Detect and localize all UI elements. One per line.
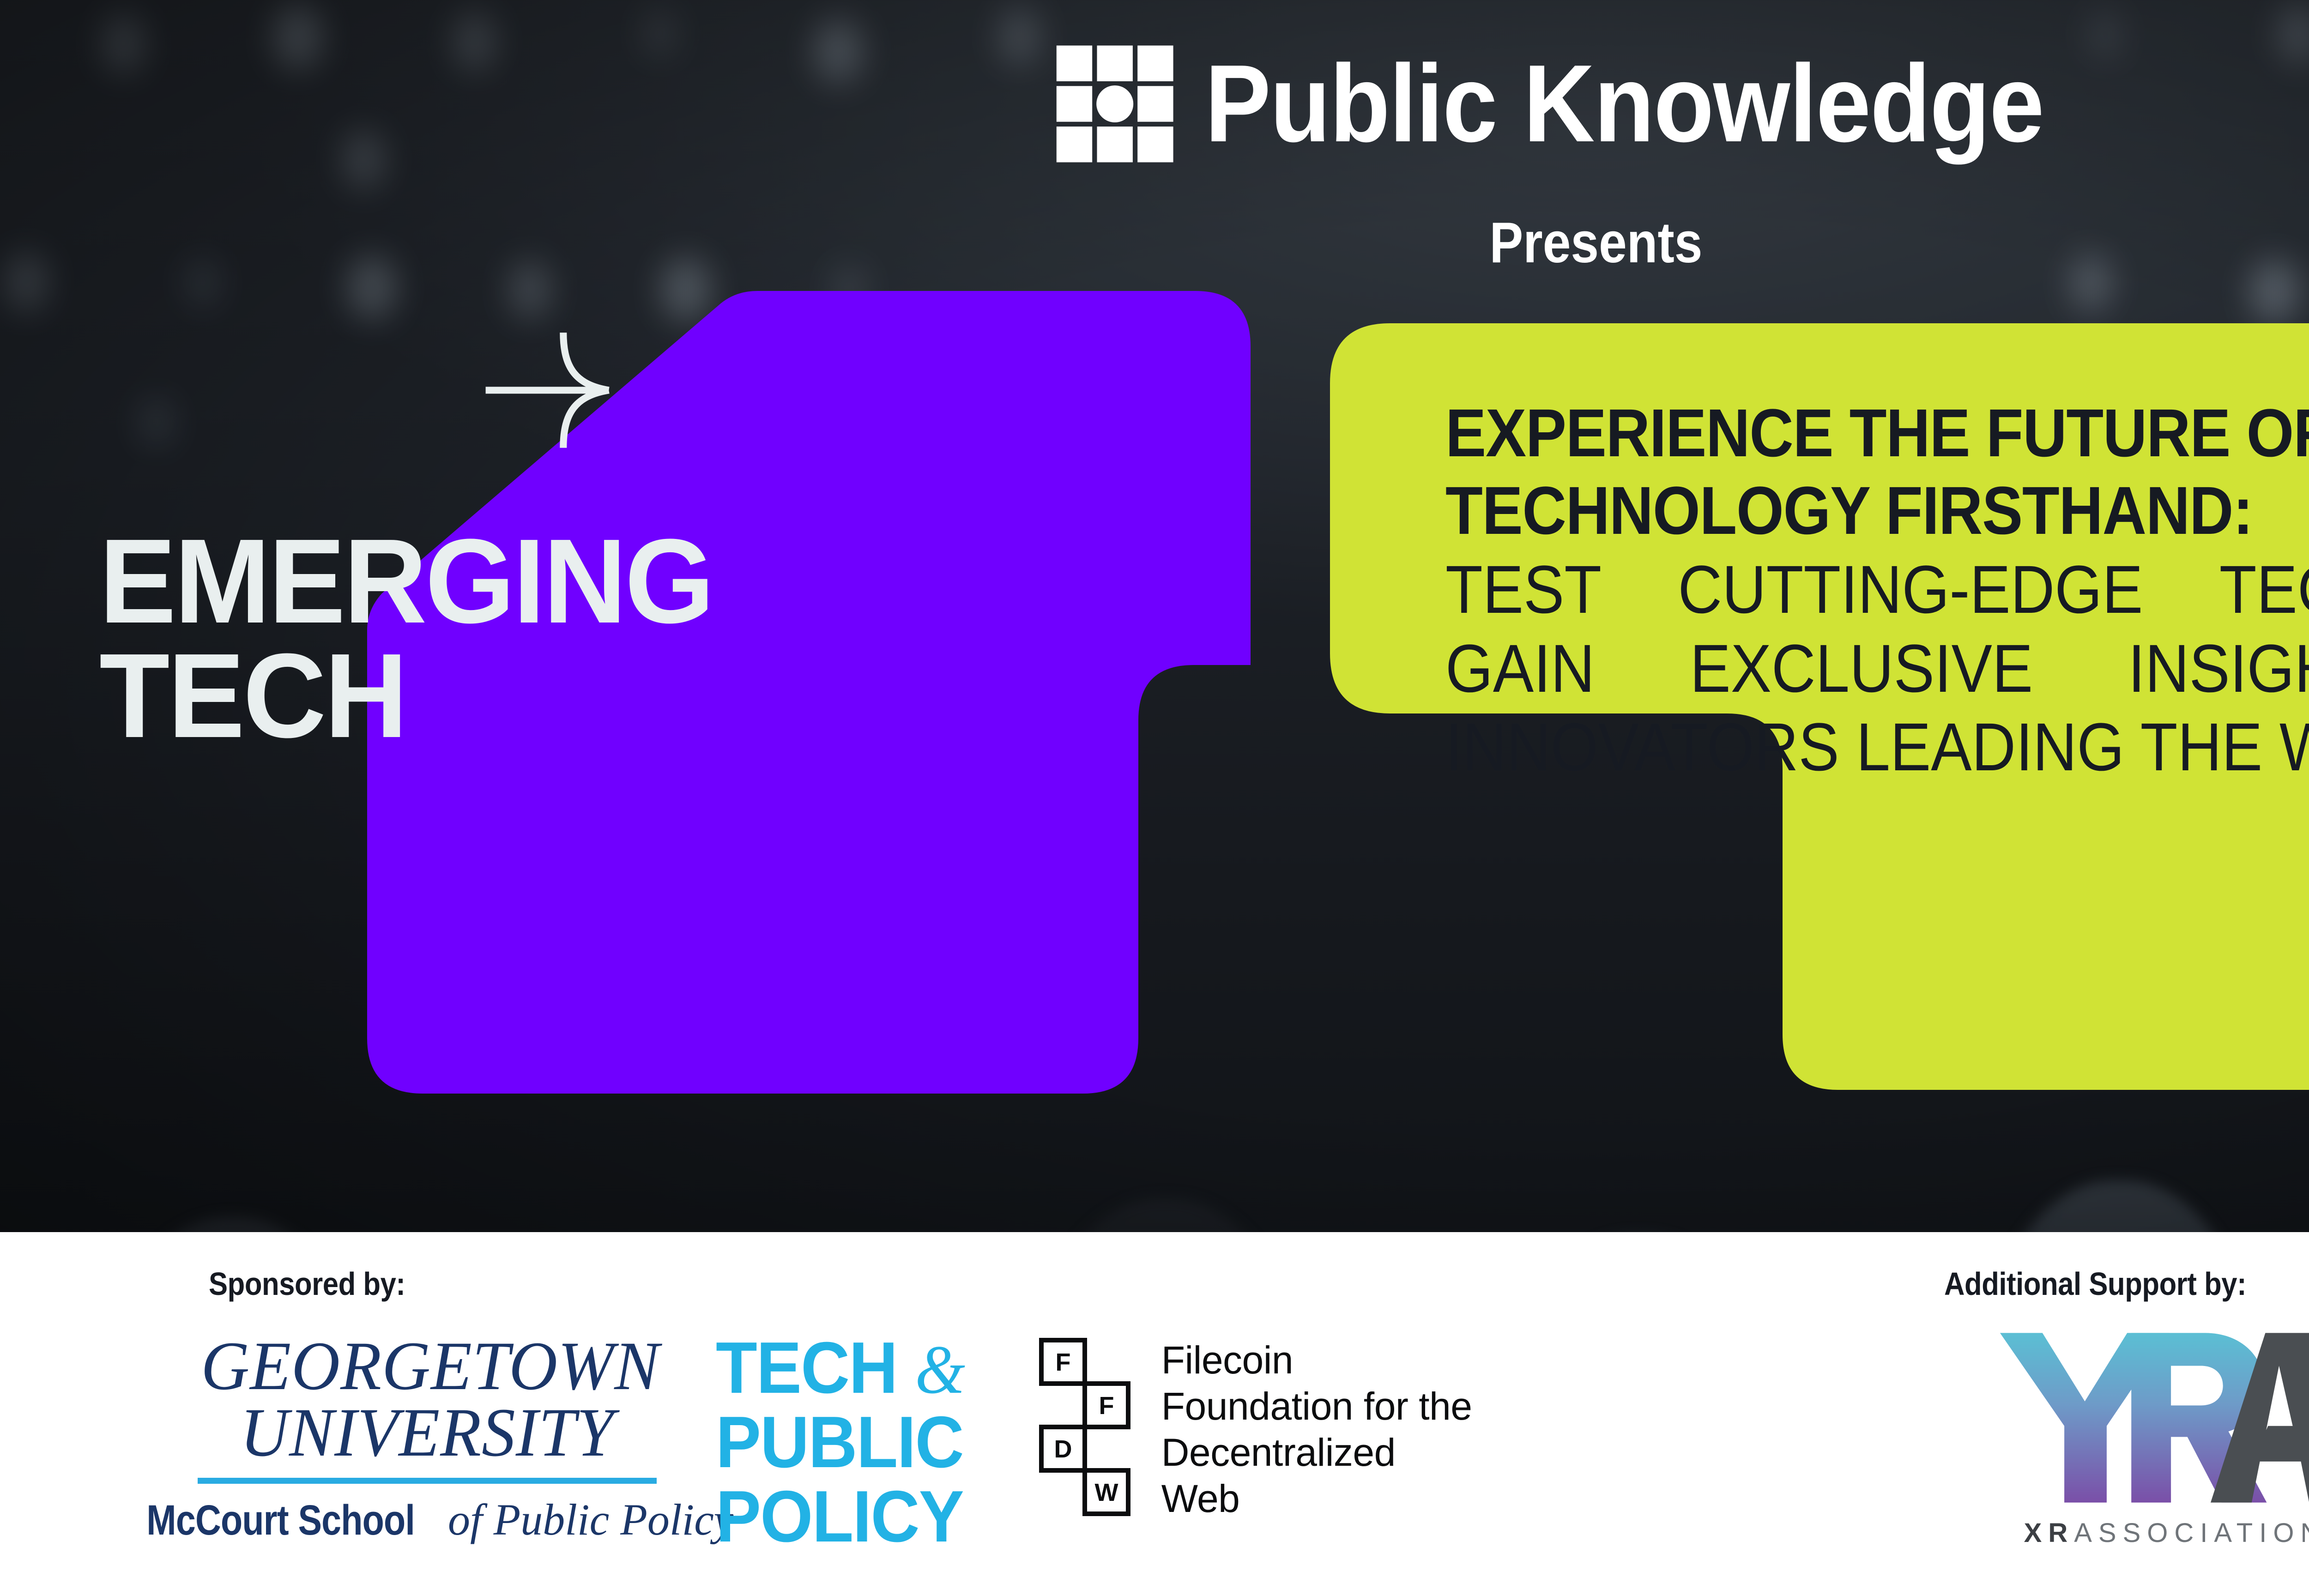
georgetown-university-logo: GEORGETOWN UNIVERSITY McCourt School of … xyxy=(194,1324,660,1545)
filecoin-ffdw-mark-icon: F F D W xyxy=(1039,1337,1131,1522)
sponsored-by-block: Sponsored by: xyxy=(209,1265,432,1302)
filecoin-text-line3: Decentralized xyxy=(1161,1430,1472,1476)
filecoin-text-line1: Filecoin xyxy=(1161,1337,1472,1384)
presents-label: Presents xyxy=(1490,210,1703,276)
banner-header: Public Knowledge Presents xyxy=(0,0,2309,296)
sponsor-footer: Sponsored by: GEORGETOWN UNIVERSITY McCo… xyxy=(0,1232,2309,1596)
filecoin-text-line2: Foundation for the xyxy=(1161,1384,1472,1430)
tpp-line1: TECH & xyxy=(716,1331,964,1405)
xra-mark-icon xyxy=(1997,1330,2309,1505)
georgetown-name-line1: GEORGETOWN xyxy=(201,1333,653,1399)
speech-bubble-headline: EXPERIENCE THE FUTURE OF TECHNOLOGY FIRS… xyxy=(1445,395,2309,550)
svg-text:F: F xyxy=(1055,1348,1070,1376)
tpp-line1-word: TECH xyxy=(716,1327,915,1409)
additional-support-label: Additional Support by: xyxy=(1944,1265,2246,1302)
svg-text:D: D xyxy=(1054,1435,1072,1463)
additional-support-block: Additional Support by: xyxy=(1944,1265,2287,1302)
brand-name: Public Knowledge xyxy=(1205,54,2043,155)
svg-text:W: W xyxy=(1094,1479,1118,1506)
speech-bubble-body: TEST CUTTING-EDGE TECHNOLOGIES AND GAIN … xyxy=(1445,550,2309,787)
tech-and-public-policy-logo: TECH & PUBLIC POLICY xyxy=(716,1324,964,1554)
emerging-tech-title-line2: TECH xyxy=(99,639,713,753)
xr-association-wordmark: XRASSOCIATION xyxy=(1967,1517,2309,1548)
filecoin-foundation-logo: F F D W Filecoin Foundation for the Dece… xyxy=(1039,1324,1472,1522)
brand-lockup: Public Knowledge xyxy=(1055,44,2137,163)
filecoin-text-line4: Web xyxy=(1161,1476,1472,1522)
georgetown-name-line2: UNIVERSITY xyxy=(201,1399,653,1466)
xr-association-logo: XRASSOCIATION xyxy=(1967,1330,2309,1548)
tpp-line2: PUBLIC xyxy=(716,1405,964,1480)
emerging-tech-title-line1: EMERGING xyxy=(99,524,713,639)
sponsor-logo-row: GEORGETOWN UNIVERSITY McCourt School of … xyxy=(194,1324,1472,1554)
filecoin-foundation-name: Filecoin Foundation for the Decentralize… xyxy=(1161,1337,1472,1522)
emerging-tech-title: EMERGING TECH xyxy=(99,524,713,754)
mccourt-school-descriptor: of Public Policy xyxy=(448,1494,733,1545)
mccourt-school-lockup: McCourt School of Public Policy xyxy=(194,1494,660,1545)
tpp-line3: POLICY xyxy=(716,1480,964,1554)
sponsored-by-label: Sponsored by: xyxy=(209,1265,405,1302)
svg-text:F: F xyxy=(1099,1392,1114,1420)
xra-wordmark-light: ASSOCIATION xyxy=(2074,1518,2309,1548)
georgetown-divider xyxy=(198,1478,657,1484)
speech-bubble-copy: EXPERIENCE THE FUTURE OF TECHNOLOGY FIRS… xyxy=(1445,395,2309,787)
body-line3: INNOVATORS LEADING THE WAY. xyxy=(1445,708,2309,787)
body-line1: TEST CUTTING-EDGE TECHNOLOGIES AND xyxy=(1445,550,2309,629)
body-line2: GAIN EXCLUSIVE INSIGHTS FROM THE xyxy=(1445,629,2309,708)
ampersand-glyph: & xyxy=(915,1331,965,1408)
mccourt-school-name: McCourt School xyxy=(146,1496,415,1545)
event-banner: Public Knowledge Presents EMERGING TECH … xyxy=(0,0,2309,1596)
curved-right-arrow-icon xyxy=(480,323,614,457)
public-knowledge-grid-logo-icon xyxy=(1055,44,1174,163)
headline-line2: TECHNOLOGY FIRSTHAND: xyxy=(1445,472,2309,550)
headline-line1: EXPERIENCE THE FUTURE OF xyxy=(1445,395,2309,472)
xra-wordmark-bold: XR xyxy=(2024,1518,2074,1548)
